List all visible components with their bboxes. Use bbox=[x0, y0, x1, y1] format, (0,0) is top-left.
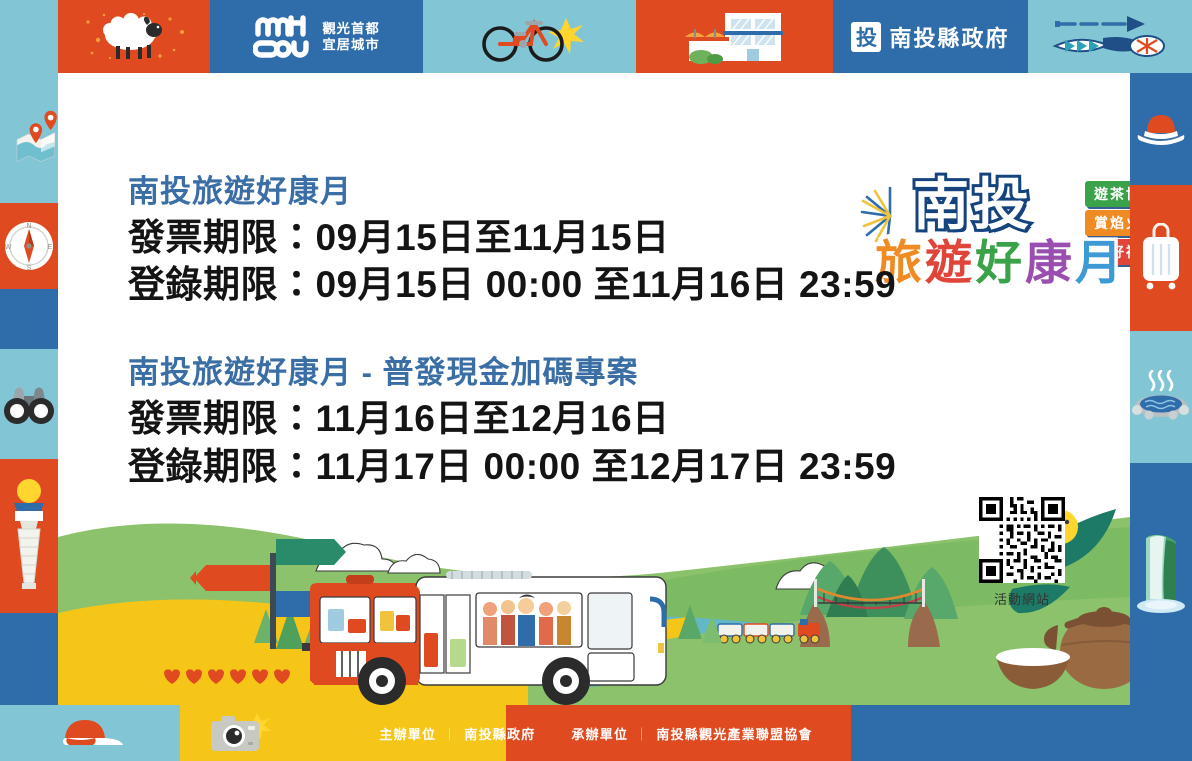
qr-code-icon[interactable] bbox=[979, 497, 1065, 583]
tour-bus bbox=[302, 571, 666, 705]
camera-icon bbox=[203, 709, 279, 755]
rail-right-segment-waterfall bbox=[1130, 463, 1192, 705]
rail-left-segment-blue-2 bbox=[0, 613, 58, 705]
rail-left-segment-compass: NS WE bbox=[0, 203, 58, 289]
promo-text-group: 南投旅遊好康月 發票期限：09月15日至11月15日 登錄期限：09月15日 0… bbox=[128, 173, 948, 490]
header-block-dragon-boat bbox=[1028, 0, 1192, 73]
svg-text:S: S bbox=[27, 265, 32, 272]
sheep-icon bbox=[74, 6, 194, 68]
promo-block-2: 南投旅遊好康月 - 普發現金加碼專案 發票期限：11月16日至12月16日 登錄… bbox=[128, 354, 948, 489]
left-rail: NS WE bbox=[0, 73, 58, 705]
header-block-city-brand: 觀光首都 宜居城市 bbox=[210, 0, 423, 73]
signpost-go-label: GO! bbox=[294, 117, 323, 132]
city-brand-line1: 觀光首都 bbox=[322, 21, 379, 37]
logo-char-yue: 月 bbox=[1075, 239, 1122, 286]
scenery-objects bbox=[58, 493, 1130, 705]
svg-text:N: N bbox=[26, 223, 31, 230]
hot-spring-icon bbox=[1132, 370, 1190, 424]
binoculars-icon bbox=[2, 382, 56, 426]
map-pin-icon bbox=[16, 95, 58, 181]
promo-2-register-period: 登錄期限：11月17日 00:00 至12月17日 23:59 bbox=[128, 443, 948, 490]
promo-1-register-period: 登錄期限：09月15日 00:00 至11月16日 23:59 bbox=[128, 261, 948, 308]
bottom-block-cap bbox=[0, 705, 180, 761]
signpost-heart-icon: ❤ bbox=[210, 143, 223, 161]
compass-icon: NS WE bbox=[2, 219, 56, 273]
rail-left-segment-blue bbox=[0, 289, 58, 349]
content-canvas: GO! NANTOU ❤ 南 投 遊茶博 賞焰火 抽好禮 bbox=[58, 73, 1130, 705]
header-block-government: 投 南投縣政府 bbox=[833, 0, 1028, 73]
rail-left-segment-map bbox=[0, 73, 58, 203]
bicycle-icon bbox=[474, 8, 586, 66]
city-brand-line2: 宜居城市 bbox=[322, 37, 379, 53]
promo-2-invoice-period: 發票期限：11月16日至12月16日 bbox=[128, 395, 948, 442]
svg-text:W: W bbox=[5, 244, 12, 251]
cap-icon bbox=[55, 716, 125, 750]
city-brand-text: 觀光首都 宜居城市 bbox=[322, 21, 379, 52]
promo-block-1: 南投旅遊好康月 發票期限：09月15日至11月15日 登錄期限：09月15日 0… bbox=[128, 173, 948, 308]
right-rail bbox=[1130, 73, 1192, 705]
promo-spacer bbox=[128, 308, 948, 354]
logo-char-kang: 康 bbox=[1025, 239, 1072, 286]
rail-right-segment-hat bbox=[1130, 73, 1192, 185]
rail-right-segment-hot-spring bbox=[1130, 331, 1192, 463]
bottom-block-blue bbox=[851, 705, 1192, 761]
sun-hat-icon bbox=[1134, 109, 1188, 149]
header-block-sheep bbox=[58, 0, 210, 73]
svg-text:E: E bbox=[48, 244, 53, 251]
camera-icon-wrap bbox=[196, 709, 286, 755]
dragon-boat-icon bbox=[1049, 10, 1171, 64]
suitcase-icon bbox=[1137, 223, 1185, 293]
logo-char-hao: 好 bbox=[975, 239, 1022, 286]
building-icon bbox=[669, 7, 801, 67]
promo-1-title: 南投旅遊好康月 bbox=[128, 173, 948, 212]
bottom-block-camera bbox=[506, 705, 851, 761]
qr-caption: 活動網站 bbox=[976, 589, 1068, 608]
gov-mark-icon: 投 bbox=[851, 22, 881, 52]
waterfall-icon bbox=[1132, 526, 1190, 622]
rail-right-segment-suitcase bbox=[1130, 185, 1192, 331]
badge-fireworks: 賞焰火 bbox=[1085, 210, 1130, 236]
rail-left-segment-binoculars bbox=[0, 349, 58, 459]
poster-root: 觀光首都 宜居城市 bbox=[0, 0, 1192, 761]
logo-char-tou: 投 bbox=[973, 177, 1029, 233]
qr-block[interactable]: 活動網站 bbox=[976, 497, 1068, 608]
header-block-building bbox=[636, 0, 833, 73]
nantou-wordmark-icon bbox=[253, 14, 313, 60]
rail-left-segment-lighthouse bbox=[0, 459, 58, 613]
promo-1-invoice-period: 發票期限：09月15日至11月15日 bbox=[128, 214, 948, 261]
gov-name: 南投縣政府 bbox=[889, 21, 1009, 53]
badge-tea-expo: 遊茶博 bbox=[1085, 181, 1130, 207]
lighthouse-icon bbox=[4, 477, 54, 595]
header-block-bicycle bbox=[423, 0, 636, 73]
promo-2-title: 南投旅遊好康月 - 普發現金加碼專案 bbox=[128, 354, 948, 393]
